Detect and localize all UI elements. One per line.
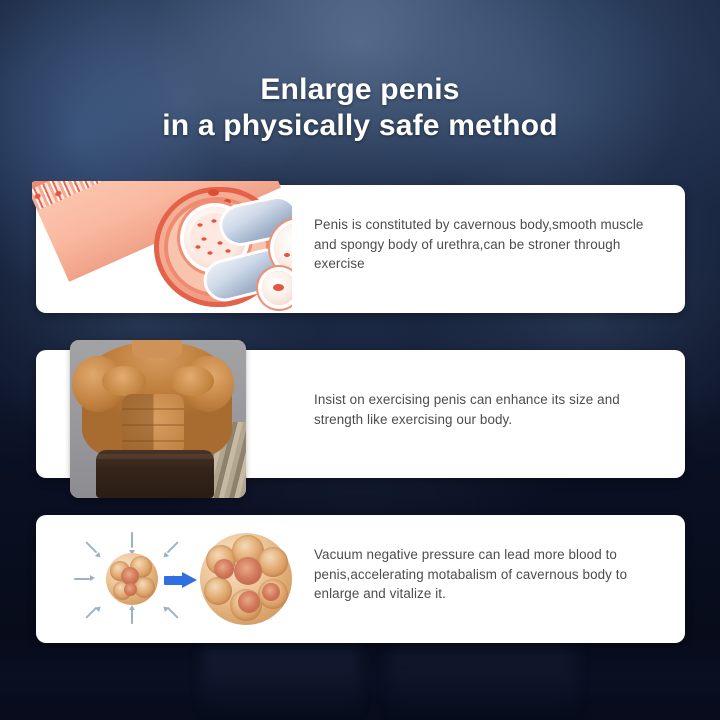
vessel-open-end bbox=[150, 185, 282, 311]
feature-card-exercise: Insist on exercising penis can enhance i… bbox=[36, 350, 685, 478]
panel-text-anatomy: Penis is constituted by cavernous body,s… bbox=[314, 215, 651, 274]
arrow-stem bbox=[164, 576, 184, 585]
transition-arrow-icon bbox=[164, 572, 198, 588]
pressure-ray-head bbox=[90, 575, 95, 581]
photo-shorts bbox=[96, 450, 214, 498]
pressure-ray-head bbox=[161, 604, 169, 612]
cell-core bbox=[124, 583, 137, 596]
pressure-ray-head bbox=[95, 604, 103, 612]
blood-vessel-dot bbox=[224, 199, 231, 204]
panel-text-vacuum: Vacuum negative pressure can lead more b… bbox=[314, 545, 651, 604]
photo-shorts-waistband bbox=[96, 454, 214, 459]
photo-pectoral-left bbox=[102, 366, 146, 396]
cell-lobe bbox=[204, 577, 232, 605]
photo-abdominals bbox=[122, 394, 184, 456]
cell-core bbox=[238, 591, 260, 613]
background-shorts-right bbox=[389, 648, 576, 720]
background-shorts-left bbox=[202, 646, 360, 720]
urethra-lumen-dot bbox=[273, 284, 284, 291]
feature-card-vacuum: Vacuum negative pressure can lead more b… bbox=[36, 515, 685, 643]
pressure-ray bbox=[167, 541, 179, 553]
photo-neck bbox=[132, 340, 182, 358]
title-line-1: Enlarge penis bbox=[260, 73, 459, 106]
penis-cross-section-diagram bbox=[32, 181, 292, 317]
urethra-lumen-dot bbox=[284, 253, 290, 257]
photo-pectoral-right bbox=[170, 366, 214, 396]
pressure-ray bbox=[131, 532, 133, 548]
pressure-ray bbox=[131, 608, 133, 624]
cell-core bbox=[234, 557, 262, 585]
arrow-head bbox=[182, 572, 197, 588]
pressure-ray-head bbox=[129, 605, 135, 610]
panel-text-exercise: Insist on exercising penis can enhance i… bbox=[314, 390, 651, 429]
cell-core bbox=[262, 583, 280, 601]
page-title: Enlarge penis in a physically safe metho… bbox=[0, 72, 720, 144]
cell-cluster-enlargement-diagram bbox=[60, 525, 296, 633]
cell-lobe bbox=[258, 547, 288, 577]
feature-card-anatomy: Penis is constituted by cavernous body,s… bbox=[36, 185, 685, 313]
blood-vessel-dot bbox=[208, 189, 219, 196]
cell-cluster-small bbox=[106, 553, 158, 605]
urethra-cap-lower bbox=[262, 271, 292, 305]
pressure-ray bbox=[74, 578, 90, 580]
pressure-ray-head bbox=[95, 552, 103, 560]
cell-core bbox=[214, 559, 234, 579]
pressure-ray bbox=[85, 541, 97, 553]
cell-cluster-enlarged bbox=[200, 533, 292, 625]
title-line-2: in a physically safe method bbox=[0, 108, 720, 144]
background-dark-band bbox=[0, 640, 720, 720]
infographic-canvas: Enlarge penis in a physically safe metho… bbox=[0, 0, 720, 720]
muscular-male-torso-photo bbox=[70, 340, 246, 498]
